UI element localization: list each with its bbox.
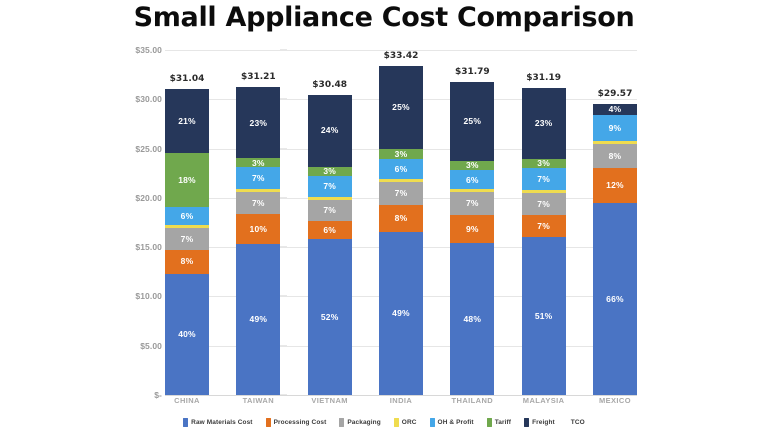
bar-segment[interactable]: 7% [522,215,566,237]
stacked-bar[interactable]: 49%8%7%6%3%25% [379,66,423,395]
y-axis: $35.00$30.00$25.00$20.00$15.00$10.00$5.0… [118,50,162,395]
bar-segment[interactable]: 10% [236,214,280,245]
bar-segment-label: 7% [537,175,550,184]
bar-column[interactable]: $31.0440%8%7%6%18%21% [165,50,209,395]
bar-segment-label: 49% [250,315,268,324]
bar-segment[interactable]: 6% [308,221,352,239]
bar-segment[interactable]: 48% [450,243,494,395]
bar-segment-label: 23% [535,119,553,128]
bar-segment-label: 7% [323,206,336,215]
legend-label: Freight [532,419,555,426]
bar-segment[interactable]: 3% [236,158,280,167]
legend-item[interactable]: Freight [524,418,555,427]
bar-segment[interactable]: 8% [379,205,423,232]
bar-segment-label: 4% [609,105,622,114]
bar-segment[interactable]: 25% [379,66,423,149]
bar-segment[interactable] [308,197,352,200]
bar-segment-label: 7% [537,200,550,209]
bar-segment-label: 6% [395,165,408,174]
y-axis-tick-label: $15.00 [135,242,162,252]
legend-item[interactable]: TCO [568,418,585,427]
stacked-bar[interactable]: 52%6%7%7%3%24% [308,95,352,395]
bar-segment-label: 66% [606,295,624,304]
bar-segment[interactable]: 9% [593,115,637,141]
y-axis-tick-label: $- [154,390,162,400]
bar-segment[interactable]: 4% [593,104,637,116]
bar-segment-label: 24% [321,126,339,135]
bar-segment-label: 6% [323,226,336,235]
bar-segment-label: 40% [178,330,196,339]
bar-segment-label: 3% [466,161,479,170]
x-axis-label-mexico: MEXICO [593,396,637,410]
bar-segment-label: 21% [178,117,196,126]
x-axis: CHINATAIWANVIETNAMINDIATHAILANDMALAYSIAM… [165,396,637,410]
bar-segment[interactable]: 7% [236,167,280,189]
legend-item[interactable]: OH & Profit [430,418,474,427]
bar-segment-label: 3% [252,159,265,168]
bar-segment-label: 6% [466,176,479,185]
x-axis-label-china: CHINA [165,396,209,410]
legend-swatch-icon [339,418,344,427]
bar-segment-label: 8% [609,152,622,161]
y-axis-tick-label: $35.00 [135,45,162,55]
x-axis-label-malaysia: MALAYSIA [522,396,566,410]
bar-segment[interactable] [165,225,209,228]
x-axis-label-vietnam: VIETNAM [308,396,352,410]
bar-segment-label: 10% [250,225,268,234]
legend-label: ORC [402,419,417,426]
bar-segment-label: 6% [181,212,194,221]
y-axis-tick-label: $5.00 [140,341,162,351]
bar-segment-label: 51% [535,312,553,321]
bar-total-label: $31.79 [455,67,490,77]
bar-segment[interactable]: 7% [308,176,352,197]
bar-segment-label: 3% [395,150,408,159]
bar-column[interactable]: $29.5766%12%8%9%4% [593,50,637,395]
legend-swatch-icon [430,418,435,427]
y-axis-tick-label: $20.00 [135,193,162,203]
bar-total-label: $33.42 [384,51,419,61]
bar-segment-label: 12% [606,181,624,190]
y-axis-tick-label: $30.00 [135,94,162,104]
bar-segment[interactable]: 6% [450,170,494,189]
stacked-bar[interactable]: 49%10%7%7%3%23% [236,87,280,395]
bar-column[interactable]: $31.1951%7%7%7%3%23% [522,50,566,395]
bar-segment-label: 7% [323,182,336,191]
bar-segment[interactable]: 40% [165,274,209,395]
bar-segment-label: 7% [537,222,550,231]
bar-segment[interactable]: 25% [450,82,494,161]
bar-segment[interactable]: 12% [593,168,637,203]
legend-label: Processing Cost [274,419,327,426]
bar-segment[interactable] [236,189,280,192]
bar-segment-label: 18% [178,176,196,185]
bar-segment-label: 3% [537,159,550,168]
bar-column[interactable]: $31.2149%10%7%7%3%23% [236,50,280,395]
bar-segment[interactable]: 21% [165,89,209,153]
stacked-bar[interactable]: 51%7%7%7%3%23% [522,88,566,395]
bar-segment-label: 8% [395,214,408,223]
x-axis-label-taiwan: TAIWAN [236,396,280,410]
legend-label: Packaging [347,419,380,426]
legend-label: Raw Materials Cost [191,419,252,426]
bar-segment-label: 7% [466,199,479,208]
legend-item[interactable]: Processing Cost [266,418,327,427]
bar-segment-label: 3% [323,167,336,176]
bar-segment[interactable]: 8% [165,250,209,274]
bar-group: $31.0440%8%7%6%18%21%$31.2149%10%7%7%3%2… [165,50,637,395]
bar-segment[interactable]: 66% [593,203,637,395]
bar-segment[interactable]: 3% [308,167,352,176]
bar-column[interactable]: $33.4249%8%7%6%3%25% [379,50,423,395]
legend-label: TCO [571,419,585,426]
bar-segment[interactable]: 18% [165,153,209,208]
bar-segment[interactable]: 7% [522,168,566,190]
legend-swatch-icon [487,418,492,427]
x-axis-label-thailand: THAILAND [450,396,494,410]
bar-segment[interactable]: 49% [236,244,280,395]
legend-swatch-icon [394,418,399,427]
chart-screenshot: Small Appliance Cost Comparison $35.00$3… [0,0,768,432]
bar-segment[interactable]: 7% [450,192,494,214]
bar-segment[interactable]: 7% [165,228,209,249]
bar-segment[interactable]: 7% [308,200,352,221]
bar-total-label: $29.57 [598,89,633,99]
bar-segment[interactable]: 9% [450,215,494,243]
bar-segment[interactable]: 52% [308,239,352,395]
legend-item[interactable]: Raw Materials Cost [183,418,252,427]
bar-segment-label: 48% [464,315,482,324]
bar-segment[interactable]: 7% [522,193,566,215]
bar-total-label: $31.19 [526,73,561,83]
bar-segment[interactable]: 7% [379,182,423,205]
page-title: Small Appliance Cost Comparison [0,2,768,33]
legend-item[interactable]: ORC [394,418,417,427]
bar-segment[interactable] [450,189,494,192]
bar-segment[interactable]: 3% [450,161,494,170]
stacked-bar[interactable]: 40%8%7%6%18%21% [165,89,209,395]
bar-segment[interactable]: 49% [379,232,423,395]
legend-label: Tariff [495,419,511,426]
bar-segment-label: 52% [321,313,339,322]
bar-segment-label: 7% [252,199,265,208]
bar-segment[interactable]: 23% [522,88,566,159]
bar-total-label: $30.48 [312,80,347,90]
bar-segment-label: 49% [392,309,410,318]
bar-segment[interactable]: 8% [593,144,637,167]
bar-segment-label: 9% [609,124,622,133]
stacked-bar[interactable]: 66%12%8%9%4% [593,104,637,395]
bar-segment[interactable]: 24% [308,95,352,167]
bar-segment[interactable] [593,141,637,144]
bar-segment-label: 25% [464,117,482,126]
stacked-bar[interactable]: 48%9%7%6%3%25% [450,82,494,395]
bar-segment-label: 7% [252,174,265,183]
bar-segment[interactable]: 23% [236,87,280,158]
bar-segment[interactable] [522,190,566,193]
bar-segment[interactable]: 6% [379,159,423,179]
x-axis-label-india: INDIA [379,396,423,410]
legend-swatch-icon [524,418,529,427]
bar-column[interactable]: $30.4852%6%7%7%3%24% [308,50,352,395]
y-axis-tick-label: $10.00 [135,291,162,301]
legend-swatch-icon [266,418,271,427]
plot-area: $31.0440%8%7%6%18%21%$31.2149%10%7%7%3%2… [165,50,637,395]
bar-segment[interactable]: 3% [379,149,423,159]
bar-segment[interactable] [379,179,423,182]
legend-swatch-icon [183,418,188,427]
bar-segment-label: 25% [392,103,410,112]
legend-item[interactable]: Packaging [339,418,380,427]
bar-segment-label: 9% [466,225,479,234]
bar-segment-label: 7% [181,235,194,244]
legend-label: OH & Profit [438,419,474,426]
bar-segment-label: 23% [250,119,268,128]
bar-segment[interactable]: 6% [165,207,209,225]
chart-legend: Raw Materials CostProcessing CostPackagi… [0,418,768,427]
bar-segment-label: 7% [395,189,408,198]
bar-total-label: $31.04 [170,74,205,84]
bar-segment[interactable]: 3% [522,159,566,168]
bar-column[interactable]: $31.7948%9%7%6%3%25% [450,50,494,395]
bar-segment[interactable]: 51% [522,237,566,395]
bar-segment-label: 8% [181,257,194,266]
legend-item[interactable]: Tariff [487,418,511,427]
bar-segment[interactable]: 7% [236,192,280,214]
bar-total-label: $31.21 [241,72,276,82]
y-axis-tick-label: $25.00 [135,144,162,154]
